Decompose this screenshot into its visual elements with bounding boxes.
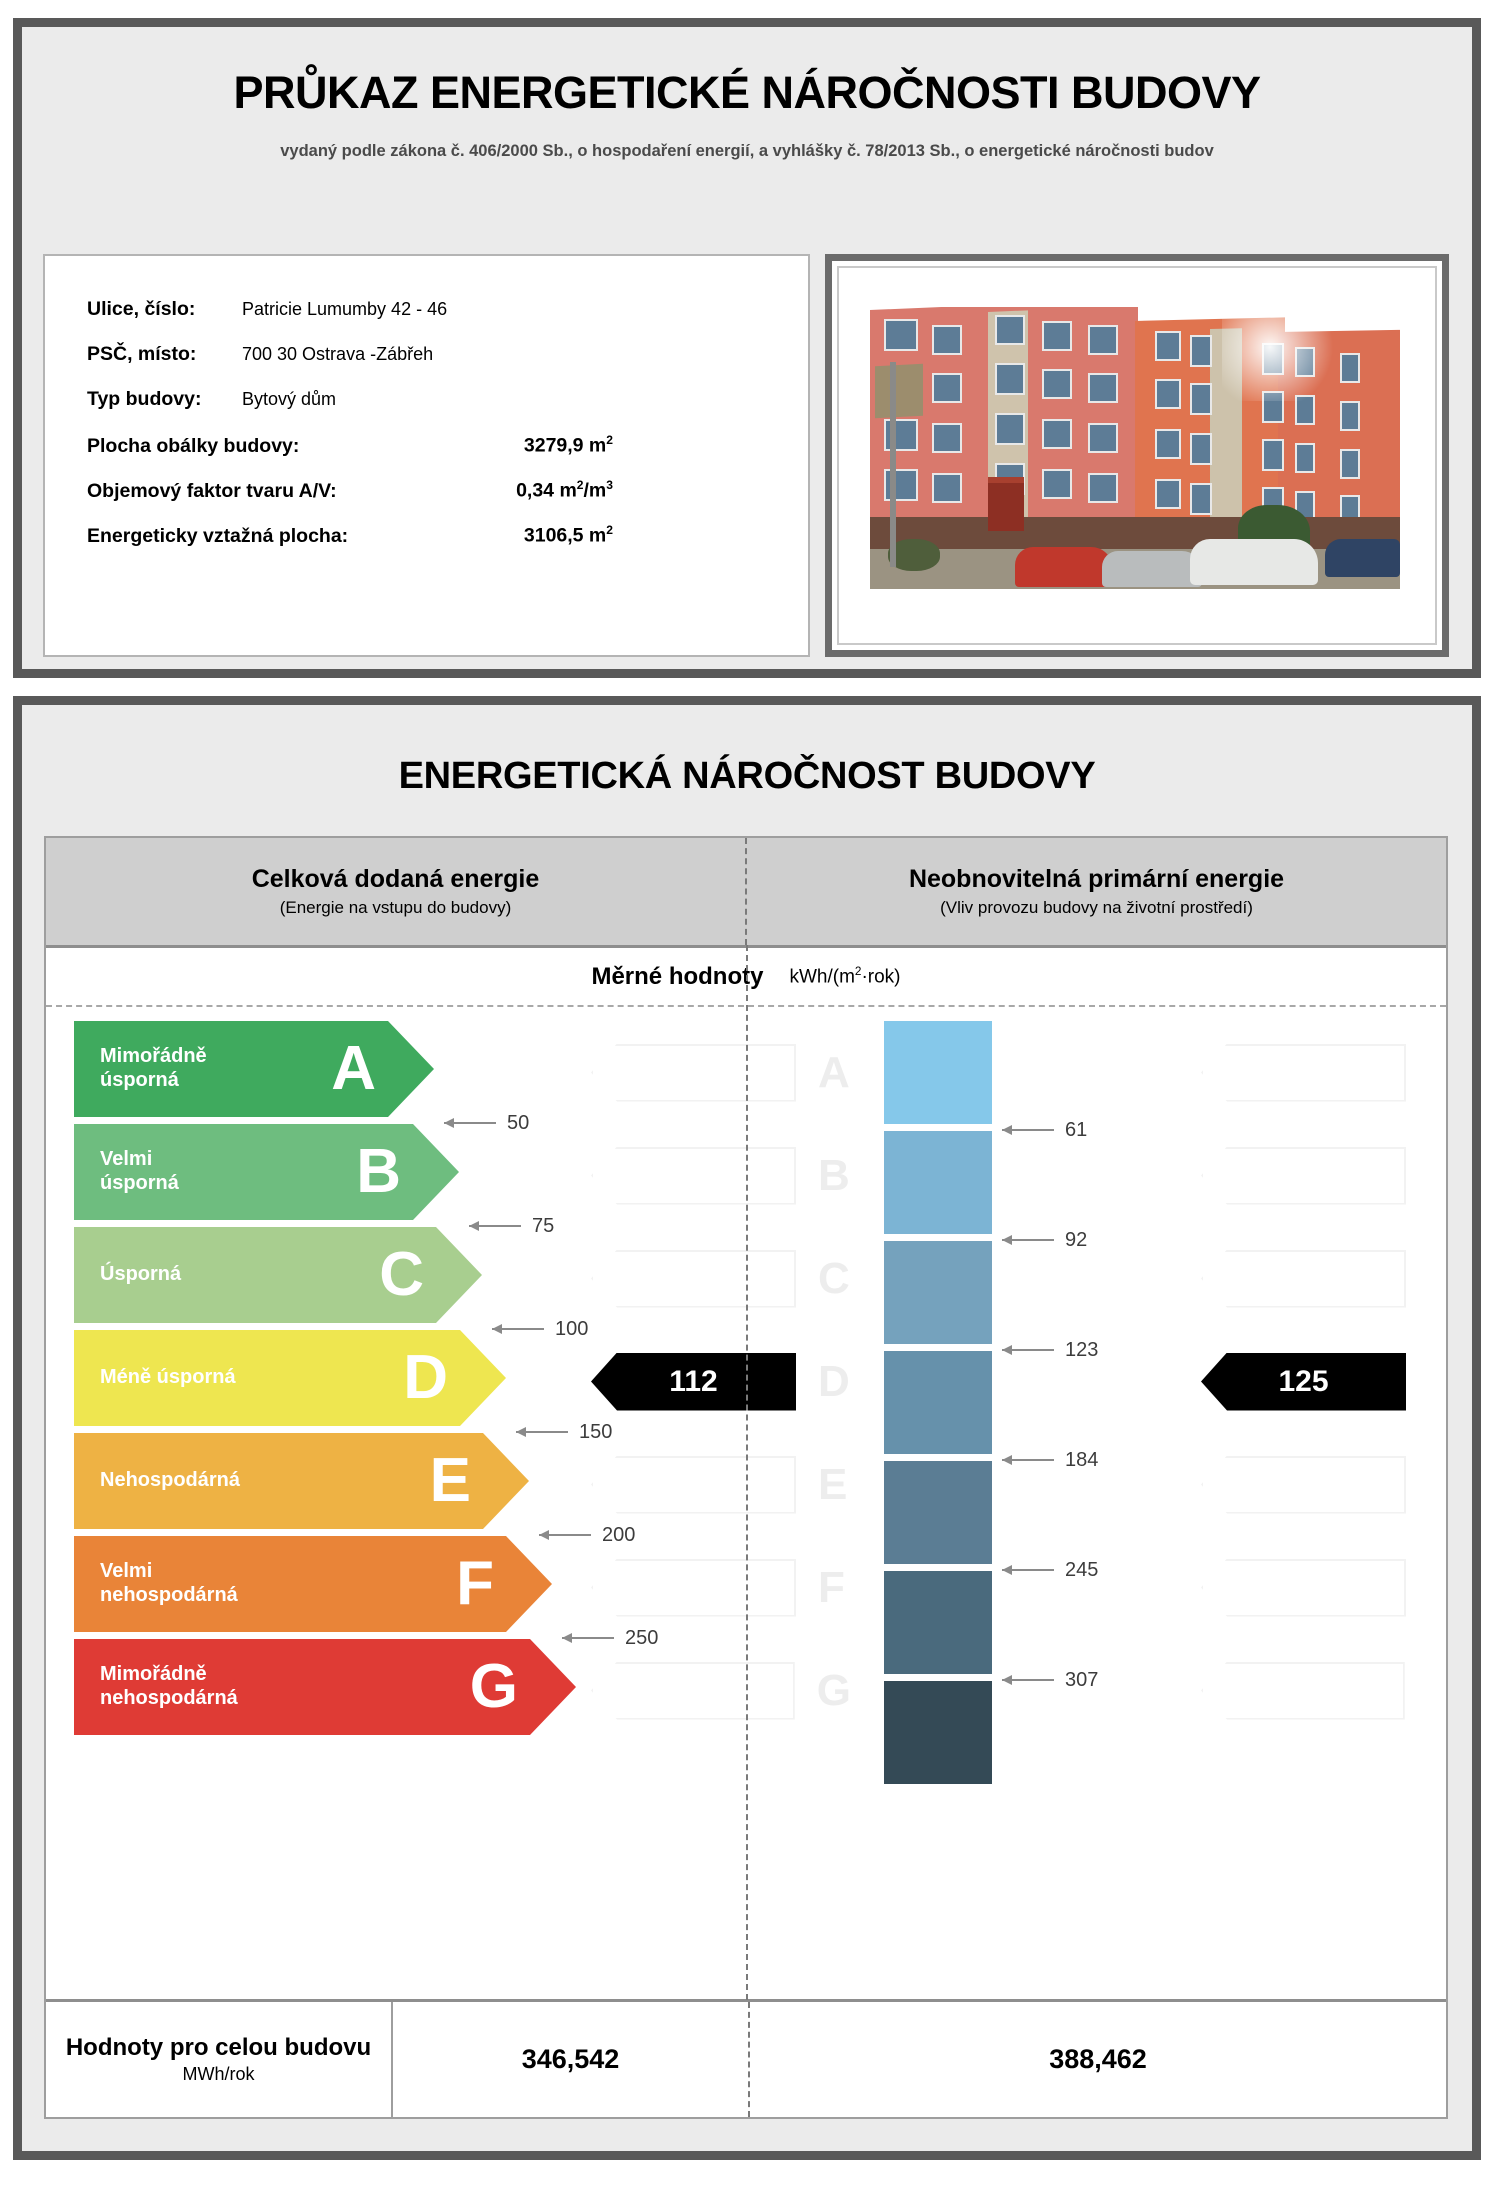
building-photo-inner-frame xyxy=(837,266,1437,645)
primary-energy-title: Neobnovitelná primární energie xyxy=(909,865,1284,894)
floor-area-value: 3106,5 m2 xyxy=(348,523,788,548)
ghost-class-letter-delivered-E: E xyxy=(818,1463,847,1507)
marker-row-primary-G: G xyxy=(1201,1639,1461,1742)
primary-block-row-E: 245 xyxy=(884,1461,992,1564)
envelope-label: Plocha obálky budovy: xyxy=(87,435,299,458)
info-row-shape-factor: Objemový faktor tvaru A/V: 0,34 m2/m3 xyxy=(87,478,788,523)
energy-performance-panel: ENERGETICKÁ NÁROČNOST BUDOVY Celková dod… xyxy=(13,696,1481,2160)
ghost-marker-delivered-E xyxy=(591,1456,796,1514)
class-letter-A: A xyxy=(331,1038,376,1100)
primary-block-row-D: 184 xyxy=(884,1351,992,1454)
energy-class-bar-G: Mimořádně nehospodárnáG xyxy=(74,1639,576,1735)
ghost-marker-primary-F xyxy=(1201,1559,1406,1617)
ghost-class-letter-delivered-B: B xyxy=(818,1154,850,1198)
class-letter-B: B xyxy=(356,1141,401,1203)
threshold-primary-E: 245 xyxy=(1002,1560,1098,1580)
primary-energy-block-E xyxy=(884,1461,992,1564)
envelope-value: 3279,9 m2 xyxy=(299,433,788,458)
column-header-delivered: Celková dodaná energie (Energie na vstup… xyxy=(46,838,747,945)
threshold-arrow-icon xyxy=(469,1225,521,1227)
info-row-postal: PSČ, místo: 700 30 Ostrava -Zábřeh xyxy=(87,343,788,388)
ghost-marker-delivered-F xyxy=(591,1559,796,1617)
result-marker-delivered: 112 xyxy=(591,1353,796,1411)
primary-block-row-G xyxy=(884,1681,992,1784)
threshold-arrow-icon xyxy=(1002,1239,1054,1241)
whole-building-row: Hodnoty pro celou budovu MWh/rok 346,542… xyxy=(46,1999,1446,2117)
ghost-marker-delivered-C xyxy=(591,1250,796,1308)
primary-energy-block-F xyxy=(884,1571,992,1674)
threshold-primary-A: 61 xyxy=(1002,1120,1087,1140)
column-header-primary: Neobnovitelná primární energie (Vliv pro… xyxy=(747,838,1446,945)
marker-row-primary-C: C xyxy=(1201,1227,1461,1330)
class-name-E: Nehospodárná xyxy=(100,1469,240,1493)
marker-row-delivered-A: A xyxy=(591,1021,851,1124)
class-letter-C: C xyxy=(379,1244,424,1306)
threshold-delivered-C: 100 xyxy=(492,1319,588,1339)
delivered-energy-subtitle: (Energie na vstupu do budovy) xyxy=(280,898,512,918)
ghost-class-letter-delivered-D: D xyxy=(818,1360,850,1404)
marker-row-primary-E: E xyxy=(1201,1433,1461,1536)
postal-value: 700 30 Ostrava -Zábřeh xyxy=(242,344,433,365)
primary-energy-block-B xyxy=(884,1131,992,1234)
column-divider xyxy=(746,945,748,2000)
building-photo xyxy=(870,307,1400,589)
info-row-envelope: Plocha obálky budovy: 3279,9 m2 xyxy=(87,433,788,478)
threshold-value: 184 xyxy=(1065,1449,1098,1472)
threshold-primary-F: 307 xyxy=(1002,1670,1098,1690)
threshold-arrow-icon xyxy=(1002,1129,1054,1131)
threshold-value: 307 xyxy=(1065,1669,1098,1692)
ghost-marker-primary-A xyxy=(1201,1044,1406,1102)
class-letter-F: F xyxy=(456,1553,494,1615)
threshold-delivered-F: 250 xyxy=(562,1628,658,1648)
threshold-primary-B: 92 xyxy=(1002,1230,1087,1250)
threshold-delivered-A: 50 xyxy=(444,1113,529,1133)
floor-area-label: Energeticky vztažná plocha: xyxy=(87,525,348,548)
ghost-marker-primary-B xyxy=(1201,1147,1406,1205)
marker-row-primary-F: F xyxy=(1201,1536,1461,1639)
marker-row-primary-D: 125D xyxy=(1201,1330,1461,1433)
energy-class-bar-B: Velmi úspornáB xyxy=(74,1124,459,1220)
whole-building-primary: 388,462 xyxy=(750,2002,1446,2117)
result-marker-primary: 125 xyxy=(1201,1353,1406,1411)
class-name-G: Mimořádně nehospodárná xyxy=(100,1663,238,1710)
info-row-street: Ulice, číslo: Patricie Lumumby 42 - 46 xyxy=(87,298,788,343)
marker-row-delivered-G: G xyxy=(591,1639,851,1742)
threshold-value: 92 xyxy=(1065,1229,1087,1252)
energy-section-title: ENERGETICKÁ NÁROČNOST BUDOVY xyxy=(22,755,1472,798)
primary-block-row-C: 123 xyxy=(884,1241,992,1344)
threshold-value: 200 xyxy=(602,1524,635,1547)
energy-class-bar-F: Velmi nehospodárnáF xyxy=(74,1536,552,1632)
threshold-arrow-icon xyxy=(444,1122,496,1124)
threshold-value: 50 xyxy=(507,1112,529,1135)
energy-scale-grid: Celková dodaná energie (Energie na vstup… xyxy=(44,836,1448,2119)
energy-class-bar-A: Mimořádně úspornáA xyxy=(74,1021,434,1117)
marker-row-primary-B: B xyxy=(1201,1124,1461,1227)
class-name-C: Úsporná xyxy=(100,1263,181,1287)
threshold-arrow-icon xyxy=(539,1534,591,1536)
energy-class-bar-C: ÚspornáC xyxy=(74,1227,482,1323)
class-letter-D: D xyxy=(403,1347,448,1409)
threshold-value: 123 xyxy=(1065,1339,1098,1362)
info-row-type: Typ budovy: Bytový dům xyxy=(87,388,788,433)
whole-building-label: Hodnoty pro celou budovu xyxy=(66,2034,371,2062)
threshold-value: 245 xyxy=(1065,1559,1098,1582)
ghost-class-letter-delivered-C: C xyxy=(818,1257,850,1301)
ghost-marker-primary-C xyxy=(1201,1250,1406,1308)
threshold-arrow-icon xyxy=(1002,1679,1054,1681)
ghost-marker-primary-E xyxy=(1201,1456,1406,1514)
threshold-primary-D: 184 xyxy=(1002,1450,1098,1470)
threshold-arrow-icon xyxy=(1002,1459,1054,1461)
shape-factor-value: 0,34 m2/m3 xyxy=(337,478,788,503)
street-label: Ulice, číslo: xyxy=(87,298,242,321)
delivered-energy-title: Celková dodaná energie xyxy=(252,865,540,894)
type-label: Typ budovy: xyxy=(87,388,242,411)
threshold-value: 61 xyxy=(1065,1119,1087,1142)
marker-row-delivered-E: E xyxy=(591,1433,851,1536)
ghost-marker-primary-G xyxy=(1201,1662,1405,1720)
marker-row-delivered-C: C xyxy=(591,1227,851,1330)
threshold-value: 150 xyxy=(579,1421,612,1444)
primary-block-row-B: 92 xyxy=(884,1131,992,1234)
document-title: PRŮKAZ ENERGETICKÉ NÁROČNOSTI BUDOVY xyxy=(22,67,1472,119)
marker-row-delivered-F: F xyxy=(591,1536,851,1639)
units-value: kWh/(m2·rok) xyxy=(789,965,900,988)
units-label: Měrné hodnoty xyxy=(591,963,763,991)
class-name-B: Velmi úsporná xyxy=(100,1148,179,1195)
building-info-wrap: Ulice, číslo: Patricie Lumumby 42 - 46 P… xyxy=(43,254,1451,657)
primary-energy-block-D xyxy=(884,1351,992,1454)
threshold-delivered-D: 150 xyxy=(516,1422,612,1442)
class-name-F: Velmi nehospodárná xyxy=(100,1560,238,1607)
threshold-primary-C: 123 xyxy=(1002,1340,1098,1360)
marker-row-primary-A: A xyxy=(1201,1021,1461,1124)
ghost-marker-delivered-G xyxy=(591,1662,795,1720)
energy-class-bar-E: NehospodárnáE xyxy=(74,1433,529,1529)
whole-building-unit: MWh/rok xyxy=(183,2064,255,2085)
threshold-arrow-icon xyxy=(562,1637,614,1639)
primary-energy-blocks: 6192123184245307 xyxy=(884,1021,992,1791)
energy-class-bar-D: Méně úspornáD xyxy=(74,1330,506,1426)
column-headers: Celková dodaná energie (Energie na vstup… xyxy=(46,838,1446,948)
threshold-value: 100 xyxy=(555,1318,588,1341)
document-subtitle: vydaný podle zákona č. 406/2000 Sb., o h… xyxy=(22,142,1472,161)
threshold-arrow-icon xyxy=(516,1431,568,1433)
marker-row-delivered-B: B xyxy=(591,1124,851,1227)
threshold-delivered-E: 200 xyxy=(539,1525,635,1545)
primary-energy-block-C xyxy=(884,1241,992,1344)
street-value: Patricie Lumumby 42 - 46 xyxy=(242,299,447,320)
ghost-class-letter-delivered-F: F xyxy=(818,1566,845,1610)
type-value: Bytový dům xyxy=(242,389,336,410)
threshold-value: 250 xyxy=(625,1627,658,1650)
ghost-class-letter-delivered-A: A xyxy=(818,1051,850,1095)
class-letter-G: G xyxy=(470,1656,518,1718)
marker-row-delivered-D: 112D xyxy=(591,1330,851,1433)
threshold-delivered-B: 75 xyxy=(469,1216,554,1236)
building-photo-frame xyxy=(825,254,1449,657)
threshold-arrow-icon xyxy=(1002,1349,1054,1351)
primary-energy-markers: ABC125DEFG xyxy=(1201,1021,1461,1742)
whole-building-delivered: 346,542 xyxy=(393,2002,750,2117)
postal-label: PSČ, místo: xyxy=(87,343,242,366)
threshold-arrow-icon xyxy=(1002,1569,1054,1571)
threshold-arrow-icon xyxy=(492,1328,544,1330)
class-letter-E: E xyxy=(430,1450,471,1512)
whole-building-label-cell: Hodnoty pro celou budovu MWh/rok xyxy=(46,2002,393,2117)
ghost-marker-delivered-B xyxy=(591,1147,796,1205)
building-info-box: Ulice, číslo: Patricie Lumumby 42 - 46 P… xyxy=(43,254,810,657)
shape-factor-label: Objemový faktor tvaru A/V: xyxy=(87,480,337,503)
ghost-marker-delivered-A xyxy=(591,1044,796,1102)
primary-block-row-A: 61 xyxy=(884,1021,992,1124)
primary-block-row-F: 307 xyxy=(884,1571,992,1674)
class-name-D: Méně úsporná xyxy=(100,1366,236,1390)
building-info-rows: Ulice, číslo: Patricie Lumumby 42 - 46 P… xyxy=(87,298,788,568)
building-identification-panel: PRŮKAZ ENERGETICKÉ NÁROČNOSTI BUDOVY vyd… xyxy=(13,18,1481,678)
info-row-floor-area: Energeticky vztažná plocha: 3106,5 m2 xyxy=(87,523,788,568)
primary-energy-block-A xyxy=(884,1021,992,1124)
threshold-value: 75 xyxy=(532,1215,554,1238)
primary-energy-block-G xyxy=(884,1681,992,1784)
primary-energy-subtitle: (Vliv provozu budovy na životní prostřed… xyxy=(940,898,1253,918)
ghost-class-letter-delivered-G: G xyxy=(817,1669,851,1713)
class-name-A: Mimořádně úsporná xyxy=(100,1045,207,1092)
